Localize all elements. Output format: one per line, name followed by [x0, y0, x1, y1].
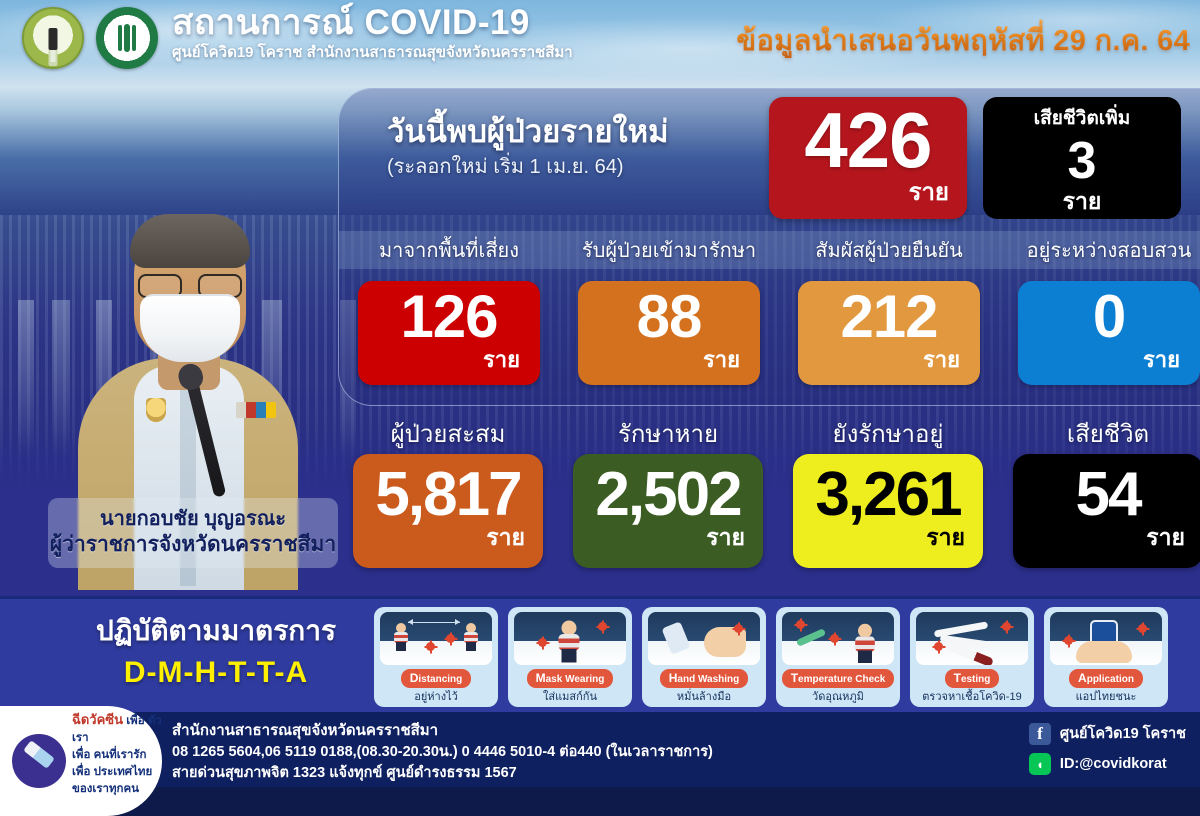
cumulative-value-2: 3,261 — [815, 466, 960, 524]
source-unit-2: ราย — [923, 342, 960, 377]
measure-badge-rest: pplication — [1087, 674, 1134, 685]
today-deaths-unit: ราย — [1063, 184, 1102, 220]
measure-badge-initial: M — [536, 671, 546, 685]
cumulative-label-2: ยังรักษาอยู่ — [778, 414, 998, 450]
footer: ฉีดวัคซีน เพื่อ ตัวเรา เพื่อ คนที่เรารัก… — [0, 712, 1200, 787]
cumulative-cell-2: 3,261 ราย — [778, 452, 998, 570]
ministry-of-public-health-seal-icon — [96, 7, 158, 69]
measure-badge-initial: A — [1078, 671, 1087, 685]
cumulative-unit-3: ราย — [1146, 520, 1185, 556]
source-label-0: มาจากพื้นที่เสี่ยง — [339, 231, 559, 269]
cumulative-label-3: เสียชีวิต — [998, 414, 1200, 450]
today-row: วันนี้พบผู้ป่วยรายใหม่ (ระลอกใหม่ เริ่ม … — [339, 89, 1200, 229]
cumulative-unit-1: ราย — [706, 520, 745, 556]
measures-bar: ปฏิบัติตามมาตรการ D-M-H-T-T-A Distancing… — [0, 596, 1200, 712]
mask-wearing-icon — [514, 612, 626, 665]
source-label-3: อยู่ระหว่างสอบสวน — [999, 231, 1200, 269]
source-value-3: 0 — [1093, 289, 1125, 344]
measure-badge-hand-washing: Hand Washing — [660, 669, 749, 688]
cumulative-box-1: 2,502 ราย — [573, 454, 763, 568]
today-deaths-label: เสียชีวิตเพิ่ม — [1034, 103, 1131, 133]
measure-caption-distancing: อยู่ห่างไว้ — [414, 691, 458, 704]
measure-card-mask-wearing[interactable]: Mask Wearing ใส่แมสก์กัน — [508, 607, 632, 707]
contact-organization: สำนักงานสาธารณสุขจังหวัดนครราชสีมา — [172, 720, 713, 742]
province-seal-icon — [22, 7, 84, 69]
measure-badge-distancing: Distancing — [401, 669, 472, 688]
measures-letters: D-M-H-T-T-A — [86, 656, 346, 690]
measure-caption-hand-washing: หมั่นล้างมือ — [677, 691, 731, 704]
measure-badge-rest: and Washing — [677, 674, 739, 685]
source-value-0: 126 — [400, 289, 497, 344]
measures-title: ปฏิบัติตามมาตรการ — [86, 613, 346, 648]
measure-badge-testing: Testing — [945, 669, 1000, 688]
footer-contact: สำนักงานสาธารณสุขจังหวัดนครราชสีมา 08 12… — [172, 720, 713, 784]
vaccine-line4: ของเราทุกคน — [72, 781, 162, 798]
testing-icon — [916, 612, 1028, 665]
source-box-3: 0 ราย — [1018, 281, 1200, 385]
cumulative-unit-0: ราย — [486, 520, 525, 556]
measure-card-temperature-check[interactable]: Temperature Check วัดอุณหภูมิ — [776, 607, 900, 707]
cumulative-cell-1: 2,502 ราย — [558, 452, 778, 570]
contact-phones: 08 1265 5604,06 5119 0188,(08.30-20.30น.… — [172, 742, 713, 763]
measure-badge-temperature-check: Temperature Check — [782, 669, 895, 688]
today-new-cases-value: 426 — [804, 105, 931, 177]
measure-badge-application: Application — [1069, 669, 1143, 688]
governor-name: นายกอบชัย บุญอรณะ — [100, 507, 286, 532]
cumulative-box-0: 5,817 ราย — [353, 454, 543, 568]
measure-badge-rest: esting — [961, 674, 990, 685]
vaccine-headline: ฉีดวัคซีน — [72, 712, 123, 727]
cumulative-value-3: 54 — [1076, 466, 1141, 524]
syringe-icon — [12, 734, 66, 788]
measure-badge-rest: istancing — [418, 674, 462, 685]
cumulative-value-1: 2,502 — [595, 466, 740, 524]
source-cell-1: 88 ราย — [559, 275, 779, 391]
social-links: f ศูนย์โควิด19 โคราช ◖ ID:@covidkorat — [1029, 722, 1186, 783]
source-value-1: 88 — [637, 289, 702, 344]
measure-caption-application: แอปไทยชนะ — [1076, 691, 1137, 704]
measure-badge-mask-wearing: Mask Wearing — [527, 669, 614, 688]
name-plate: นายกอบชัย บุญอรณะ ผู้ว่าราชการจังหวัดนคร… — [48, 498, 338, 568]
source-value-row: 126 ราย 88 ราย 212 ราย 0 ราย — [339, 275, 1200, 391]
today-new-cases-box: 426 ราย — [769, 97, 967, 219]
today-subtitle: (ระลอกใหม่ เริ่ม 1 เม.ย. 64) — [387, 155, 669, 179]
hand-washing-icon — [648, 612, 760, 665]
measure-card-testing[interactable]: Testing ตรวจหาเชื้อโควิด-19 — [910, 607, 1034, 707]
governor-position: ผู้ว่าราชการจังหวัดนครราชสีมา — [50, 532, 336, 558]
page-title: สถานการณ์ COVID-19 — [172, 4, 573, 42]
measure-card-application[interactable]: Application แอปไทยชนะ — [1044, 607, 1168, 707]
facebook-icon: f — [1029, 723, 1051, 745]
today-deaths-value: 3 — [1068, 135, 1097, 187]
cumulative-cell-0: 5,817 ราย — [338, 452, 558, 570]
cumulative-labels: ผู้ป่วยสะสม รักษาหาย ยังรักษาอยู่ เสียชี… — [338, 414, 1200, 450]
source-unit-3: ราย — [1143, 342, 1180, 377]
cumulative-label-0: ผู้ป่วยสะสม — [338, 414, 558, 450]
measure-card-distancing[interactable]: Distancing อยู่ห่างไว้ — [374, 607, 498, 707]
temperature-check-icon — [782, 612, 894, 665]
cumulative-label-1: รักษาหาย — [558, 414, 778, 450]
cumulative-values-row: 5,817 ราย 2,502 ราย 3,261 ราย 54 ราย — [338, 452, 1200, 570]
header: สถานการณ์ COVID-19 ศูนย์โควิด19 โคราช สำ… — [0, 0, 1200, 80]
today-deaths-box: เสียชีวิตเพิ่ม 3 ราย — [983, 97, 1181, 219]
source-cell-3: 0 ราย — [999, 275, 1200, 391]
measure-badge-initial: T — [954, 671, 961, 685]
governor-portrait: นายกอบชัย บุญอรณะ ผู้ว่าราชการจังหวัดนคร… — [40, 150, 340, 590]
measure-caption-mask-wearing: ใส่แมสก์กัน — [543, 691, 597, 704]
source-unit-0: ราย — [483, 342, 520, 377]
source-cell-0: 126 ราย — [339, 275, 559, 391]
measures-text: ปฏิบัติตามมาตรการ D-M-H-T-T-A — [86, 613, 346, 690]
cumulative-unit-2: ราย — [926, 520, 965, 556]
measure-caption-testing: ตรวจหาเชื้อโควิด-19 — [922, 691, 1021, 704]
measure-card-hand-washing[interactable]: Hand Washing หมั่นล้างมือ — [642, 607, 766, 707]
source-value-2: 212 — [840, 289, 937, 344]
measure-badge-rest: emperature Check — [798, 674, 885, 685]
vaccine-line3: เพื่อ ประเทศไทย — [72, 764, 162, 781]
cumulative-cell-3: 54 ราย — [998, 452, 1200, 570]
line-label: ID:@covidkorat — [1060, 756, 1167, 772]
line-link[interactable]: ◖ ID:@covidkorat — [1029, 753, 1186, 775]
measure-caption-temperature-check: วัดอุณหภูมิ — [812, 691, 864, 704]
source-label-1: รับผู้ป่วยเข้ามารักษา — [559, 231, 779, 269]
cumulative-box-2: 3,261 ราย — [793, 454, 983, 568]
vaccine-line2: เพื่อ คนที่เรารัก — [72, 747, 162, 764]
title-block: สถานการณ์ COVID-19 ศูนย์โควิด19 โคราช สำ… — [172, 4, 573, 62]
source-box-0: 126 ราย — [358, 281, 540, 385]
today-stats-panel: วันนี้พบผู้ป่วยรายใหม่ (ระลอกใหม่ เริ่ม … — [338, 88, 1200, 406]
today-title: วันนี้พบผู้ป่วยรายใหม่ — [387, 113, 669, 150]
measure-cards: Distancing อยู่ห่างไว้ Mask Wearing ใส่แ… — [374, 607, 1168, 707]
measure-badge-rest: ask Wearing — [546, 674, 605, 685]
source-cell-2: 212 ราย — [779, 275, 999, 391]
source-box-2: 212 ราย — [798, 281, 980, 385]
today-text-block: วันนี้พบผู้ป่วยรายใหม่ (ระลอกใหม่ เริ่ม … — [387, 113, 669, 179]
vaccine-text: ฉีดวัคซีน เพื่อ ตัวเรา เพื่อ คนที่เรารัก… — [72, 710, 162, 798]
social-distancing-icon — [380, 612, 492, 665]
facebook-label: ศูนย์โควิด19 โคราช — [1060, 722, 1186, 745]
line-icon: ◖ — [1029, 753, 1051, 775]
measure-badge-initial: T — [791, 671, 798, 685]
cumulative-value-0: 5,817 — [375, 466, 520, 524]
page-subtitle: ศูนย์โควิด19 โคราช สำนักงานสาธารณสุขจังห… — [172, 43, 573, 63]
application-icon — [1050, 612, 1162, 665]
source-unit-1: ราย — [703, 342, 740, 377]
cumulative-box-3: 54 ราย — [1013, 454, 1200, 568]
vaccine-callout: ฉีดวัคซีน เพื่อ ตัวเรา เพื่อ คนที่เรารัก… — [0, 706, 162, 816]
source-label-band: มาจากพื้นที่เสี่ยง รับผู้ป่วยเข้ามารักษา… — [339, 231, 1200, 269]
source-label-2: สัมผัสผู้ป่วยยืนยัน — [779, 231, 999, 269]
contact-hotline: สายด่วนสุขภาพจิต 1323 แจ้งทุกข์ ศูนย์ดำร… — [172, 763, 713, 784]
source-box-1: 88 ราย — [578, 281, 760, 385]
today-new-cases-unit: ราย — [909, 172, 949, 211]
report-date: ข้อมูลนำเสนอวันพฤหัสที่ 29 ก.ค. 64 — [736, 17, 1190, 63]
facebook-link[interactable]: f ศูนย์โควิด19 โคราช — [1029, 722, 1186, 745]
cumulative-section: ผู้ป่วยสะสม รักษาหาย ยังรักษาอยู่ เสียชี… — [338, 414, 1200, 590]
